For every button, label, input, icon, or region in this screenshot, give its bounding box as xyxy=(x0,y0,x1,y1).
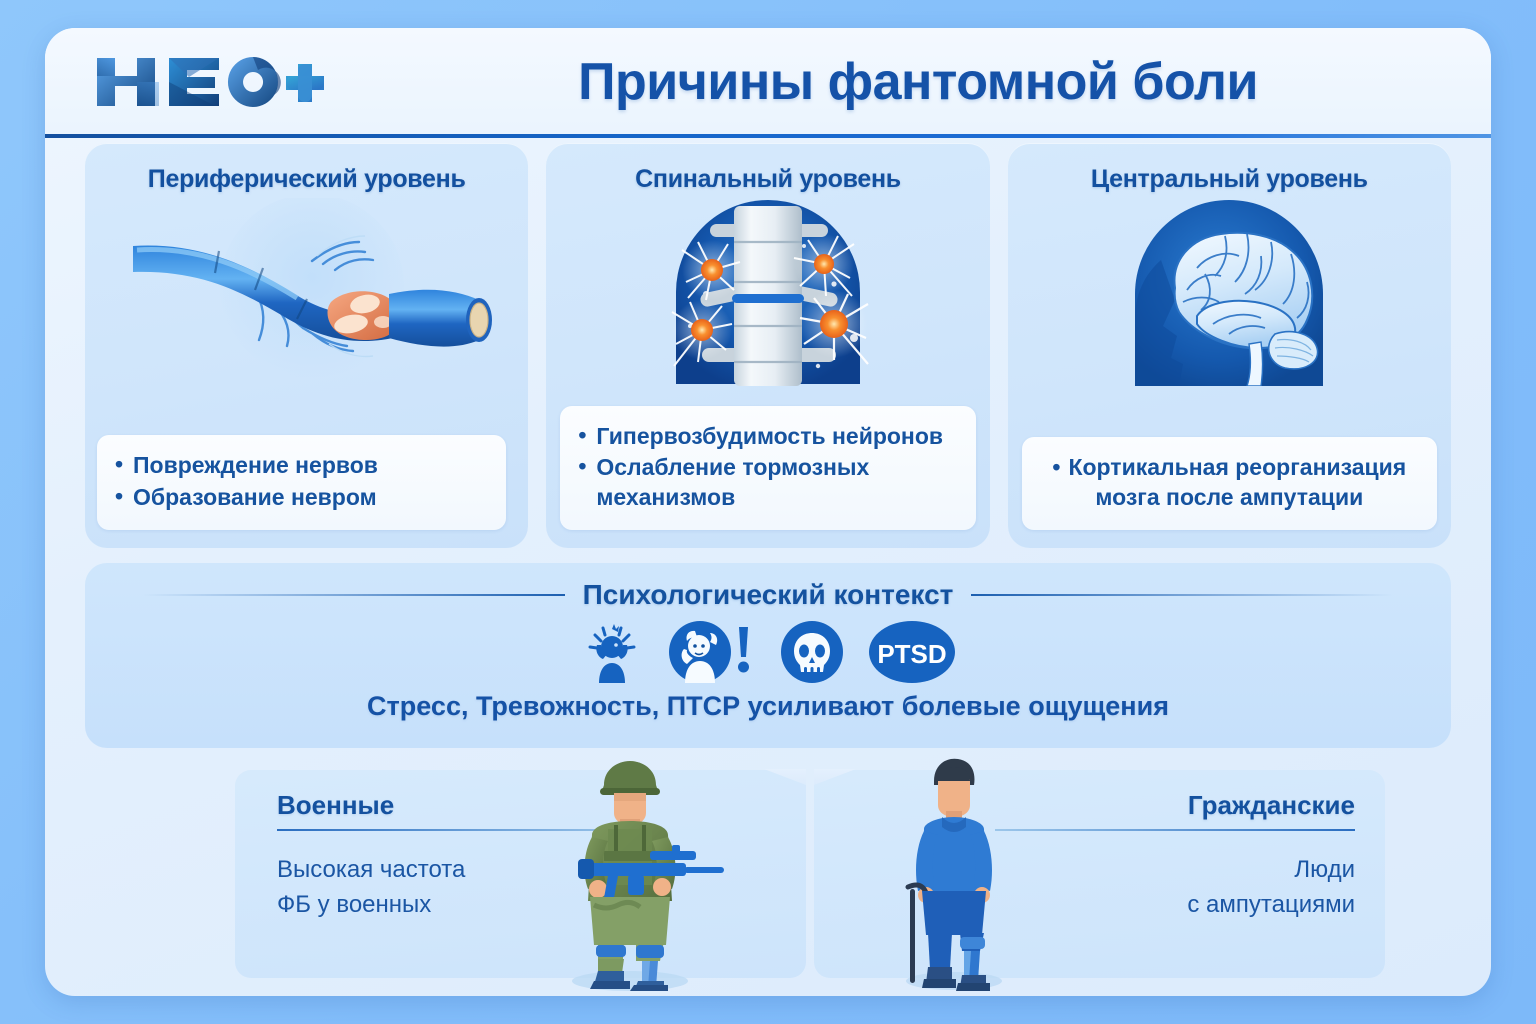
bullets-central: Кортикальная реорганизация мозга после а… xyxy=(1022,437,1437,530)
civilian-rule xyxy=(995,829,1355,831)
neo-plus-logo xyxy=(93,46,343,118)
bullets-spinal: Гипервозбудимость нейронов Ослабление то… xyxy=(560,406,975,530)
psychological-icons-row: PTSD xyxy=(85,621,1451,683)
military-line2: ФБ у военных xyxy=(277,891,431,918)
notch-corner xyxy=(764,769,806,785)
civilian-with-cane-and-prosthetic-leg-figure xyxy=(876,755,1026,996)
list-item: Кортикальная реорганизация мозга после а… xyxy=(1032,453,1427,512)
psychological-context-panel: Психологический контекст xyxy=(85,563,1451,748)
civilian-line1: Люди xyxy=(1294,856,1355,883)
groups-row: Военные Высокая частота ФБ у военных xyxy=(235,770,1385,978)
panel-military: Военные Высокая частота ФБ у военных xyxy=(235,770,806,978)
list-item: Образование невром xyxy=(107,483,496,512)
divider-left xyxy=(143,594,565,596)
card-title-peripheral: Периферический уровень xyxy=(85,143,528,194)
skull-icon xyxy=(781,621,843,683)
infographic-poster: Причины фантомной боли Периферический ур… xyxy=(45,28,1491,996)
card-title-central: Центральный уровень xyxy=(1008,143,1451,194)
poster-header: Причины фантомной боли xyxy=(45,28,1491,138)
card-central-level: Центральный уровень xyxy=(1008,143,1451,548)
page-title: Причины фантомной боли xyxy=(375,28,1461,136)
card-title-spinal: Спинальный уровень xyxy=(546,143,989,194)
list-item: Гипервозбудимость нейронов xyxy=(570,422,965,451)
notch-corner xyxy=(814,769,856,785)
civilian-line2: с ампутациями xyxy=(1187,891,1355,918)
list-item: Повреждение нервов xyxy=(107,451,496,480)
psychological-heading: Психологический контекст xyxy=(583,579,954,611)
divider-right xyxy=(971,594,1393,596)
ptsd-badge-icon: PTSD xyxy=(869,621,955,683)
stress-person-icon xyxy=(581,621,643,683)
ptsd-badge-label: PTSD xyxy=(877,639,946,669)
list-item: Ослабление тормозных механизмов xyxy=(570,453,965,512)
levels-row: Периферический уровень xyxy=(85,143,1451,548)
psychological-note: Стресс, Тревожность, ПТСР усиливают боле… xyxy=(85,691,1451,722)
military-line1: Высокая частота xyxy=(277,856,465,883)
psychological-heading-row: Психологический контекст xyxy=(85,563,1451,611)
soldier-with-prosthetic-leg-figure xyxy=(532,755,728,996)
brain-head-profile-illustration xyxy=(1008,198,1451,388)
damaged-nerve-illustration xyxy=(85,198,528,388)
civilian-text-block: Гражданские Люди с ампутациями xyxy=(995,790,1355,923)
civilian-title: Гражданские xyxy=(995,790,1355,821)
spinal-cord-neurons-illustration xyxy=(546,198,989,388)
card-spinal-level: Спинальный уровень xyxy=(546,143,989,548)
panel-civilian: Гражданские Люди с ампутациями xyxy=(814,770,1385,978)
bullets-peripheral: Повреждение нервов Образование невром xyxy=(97,435,506,530)
card-peripheral-level: Периферический уровень xyxy=(85,143,528,548)
anxiety-person-icon xyxy=(669,621,755,683)
